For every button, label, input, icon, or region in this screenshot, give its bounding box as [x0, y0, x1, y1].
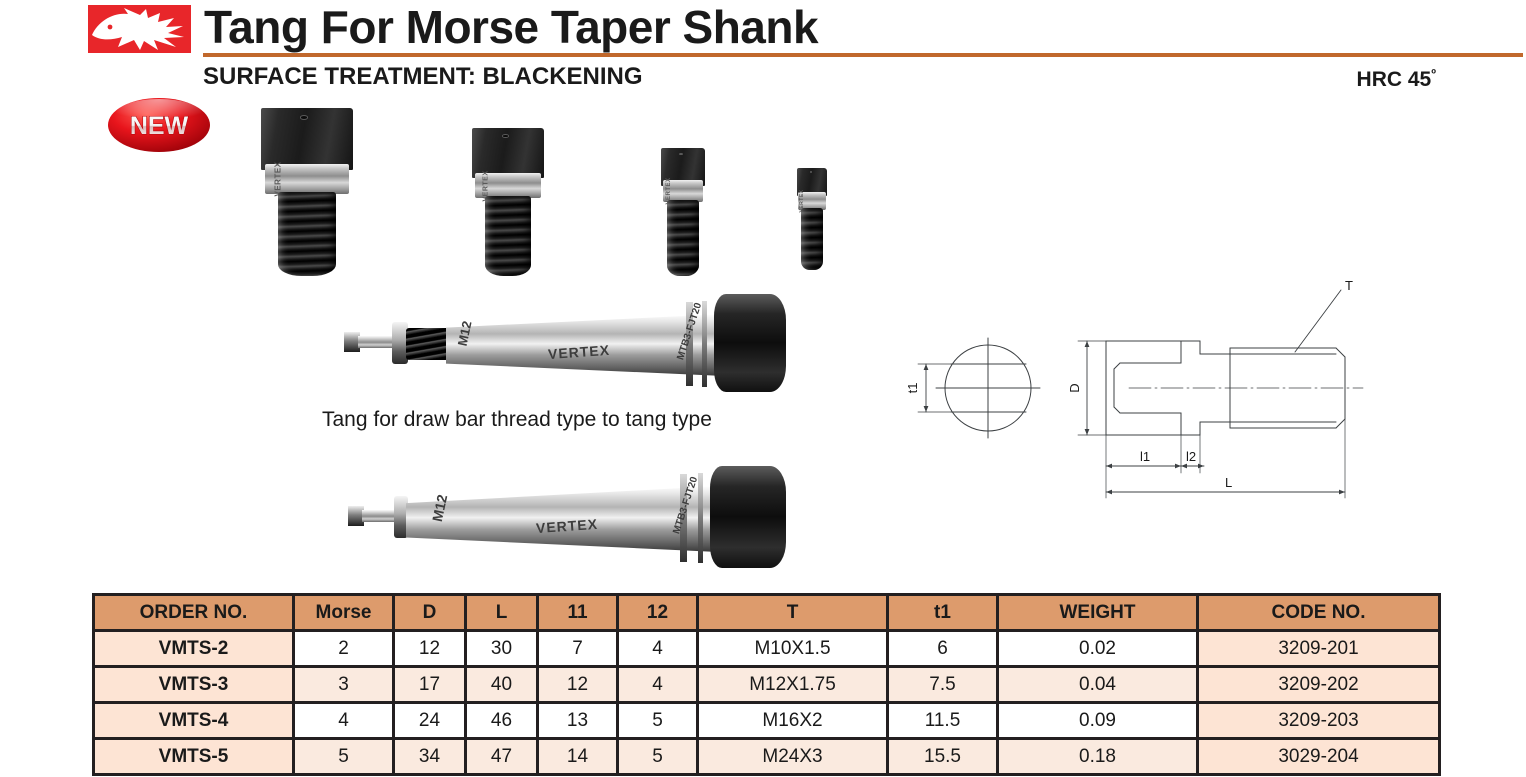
drawing-label-l2: l2	[1186, 449, 1196, 464]
cell-morse: 3	[294, 667, 394, 703]
cell-code-no: 3029-204	[1198, 739, 1440, 775]
drawing-label-l1: l1	[1140, 449, 1150, 464]
cell-l1: 13	[538, 703, 618, 739]
bolt-collar: VERTEX	[265, 164, 349, 194]
product-photo-bolt-3: VERTEX	[650, 148, 716, 276]
bolt-thread-shank	[667, 200, 699, 276]
cell-t: M10X1.5	[698, 631, 888, 667]
drawing-label-D: D	[1067, 383, 1082, 392]
cell-weight: 0.04	[998, 667, 1198, 703]
cell-order-no: VMTS-3	[94, 667, 294, 703]
cell-l: 30	[466, 631, 538, 667]
column-header-morse: Morse	[294, 595, 394, 631]
drawing-label-T: T	[1345, 278, 1353, 293]
new-badge: NEW	[107, 97, 211, 153]
cell-l1: 7	[538, 631, 618, 667]
column-header-l1: 11	[538, 595, 618, 631]
column-header-d: D	[394, 595, 466, 631]
cell-d: 24	[394, 703, 466, 739]
product-photo-bolt-2: VERTEX	[462, 128, 554, 276]
catalog-page: Tang For Morse Taper Shank SURFACE TREAT…	[0, 0, 1526, 777]
cell-l: 47	[466, 739, 538, 775]
cell-morse: 4	[294, 703, 394, 739]
cell-d: 34	[394, 739, 466, 775]
column-header-weight: WEIGHT	[998, 595, 1198, 631]
engineering-drawing: t1 D l1 l2 L T	[893, 268, 1393, 528]
bolt-collar: VERTEX	[663, 180, 703, 202]
vertex-eagle-logo-icon	[88, 5, 191, 53]
new-badge-text: NEW	[130, 112, 189, 140]
degree-symbol: º	[1431, 66, 1436, 81]
product-photo-assembly-top: M12 VERTEX MTB3-FJT20	[340, 286, 800, 398]
table-header-row: ORDER NO. Morse D L 11 12 T t1 WEIGHT CO…	[94, 595, 1440, 631]
product-photo-bolt-1: VERTEX	[252, 108, 362, 276]
cell-order-no: VMTS-5	[94, 739, 294, 775]
bolt-thread-shank	[485, 196, 531, 276]
cell-order-no: VMTS-2	[94, 631, 294, 667]
cell-l2: 5	[618, 703, 698, 739]
cell-weight: 0.18	[998, 739, 1198, 775]
table-row[interactable]: VMTS-2 2 12 30 7 4 M10X1.5 6 0.02 3209-2…	[94, 631, 1440, 667]
table-row[interactable]: VMTS-4 4 24 46 13 5 M16X2 11.5 0.09 3209…	[94, 703, 1440, 739]
cell-t1: 7.5	[888, 667, 998, 703]
column-header-order-no: ORDER NO.	[94, 595, 294, 631]
drawing-label-t1: t1	[905, 383, 920, 394]
cell-d: 12	[394, 631, 466, 667]
drawing-label-L: L	[1225, 475, 1232, 490]
bolt-collar: VERTEX	[475, 173, 541, 198]
cell-l1: 12	[538, 667, 618, 703]
table-row[interactable]: VMTS-3 3 17 40 12 4 M12X1.75 7.5 0.04 32…	[94, 667, 1440, 703]
cell-t1: 6	[888, 631, 998, 667]
column-header-t: T	[698, 595, 888, 631]
assembly-hex-nut	[710, 466, 786, 568]
cell-morse: 5	[294, 739, 394, 775]
specification-table: ORDER NO. Morse D L 11 12 T t1 WEIGHT CO…	[92, 593, 1441, 776]
column-header-t1: t1	[888, 595, 998, 631]
cell-order-no: VMTS-4	[94, 703, 294, 739]
cell-d: 17	[394, 667, 466, 703]
cell-code-no: 3209-202	[1198, 667, 1440, 703]
hardness-value: HRC 45	[1357, 68, 1432, 91]
cell-t1: 11.5	[888, 703, 998, 739]
cell-code-no: 3209-203	[1198, 703, 1440, 739]
cell-code-no: 3209-201	[1198, 631, 1440, 667]
cell-weight: 0.02	[998, 631, 1198, 667]
cell-l: 40	[466, 667, 538, 703]
product-photo-bolt-4: VERTEX	[786, 168, 838, 276]
column-header-l: L	[466, 595, 538, 631]
cell-morse: 2	[294, 631, 394, 667]
cell-l2: 4	[618, 667, 698, 703]
cell-l2: 5	[618, 739, 698, 775]
cell-t: M12X1.75	[698, 667, 888, 703]
bolt-thread-shank	[278, 192, 336, 276]
assembly-ring-band	[702, 301, 707, 387]
bolt-thread-shank	[801, 208, 823, 270]
assembly-ring-band	[698, 473, 703, 563]
table-row[interactable]: VMTS-5 5 34 47 14 5 M24X3 15.5 0.18 3029…	[94, 739, 1440, 775]
assembly-thread-section	[406, 328, 450, 360]
column-header-code-no: CODE NO.	[1198, 595, 1440, 631]
cell-l2: 4	[618, 631, 698, 667]
assembly-hex-nut	[714, 294, 786, 392]
assembly-caption: Tang for draw bar thread type to tang ty…	[322, 408, 712, 432]
surface-treatment-label: SURFACE TREATMENT: BLACKENING	[203, 63, 643, 91]
cell-l: 46	[466, 703, 538, 739]
cell-t1: 15.5	[888, 739, 998, 775]
product-photo-assembly-bottom: M12 VERTEX MTB3-FJT20	[340, 456, 800, 574]
cell-t: M16X2	[698, 703, 888, 739]
assembly-washer	[394, 496, 408, 538]
hardness-label: HRC 45º	[1357, 66, 1436, 92]
page-title: Tang For Morse Taper Shank	[204, 2, 818, 52]
cell-weight: 0.09	[998, 703, 1198, 739]
title-divider	[203, 53, 1523, 57]
column-header-l2: 12	[618, 595, 698, 631]
cell-l1: 14	[538, 739, 618, 775]
cell-t: M24X3	[698, 739, 888, 775]
